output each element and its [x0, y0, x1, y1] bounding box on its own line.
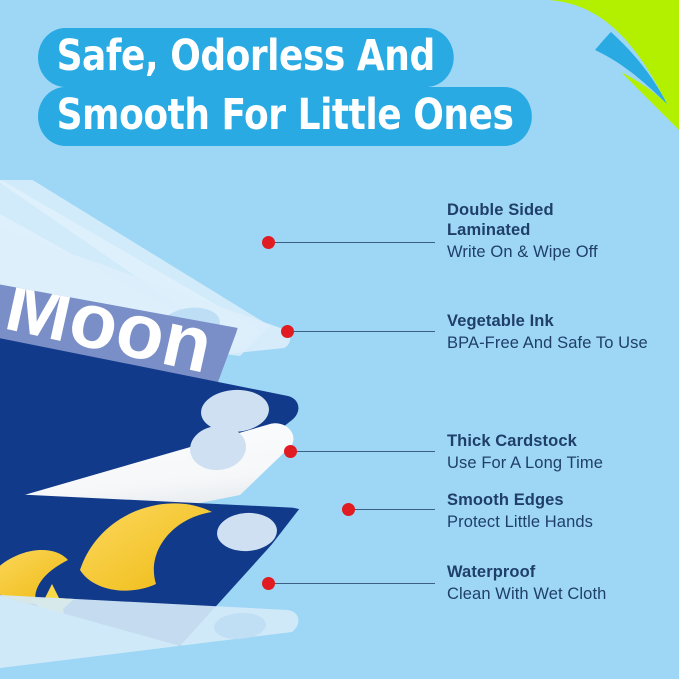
callout-subtitle: Use For A Long Time — [447, 453, 603, 474]
callout-title-line-1: Double Sided — [447, 201, 554, 219]
callout-leader-2 — [293, 331, 435, 332]
callout-thick-cardstock: Thick Cardstock Use For A Long Time — [447, 431, 603, 475]
callout-dot-1 — [262, 236, 275, 249]
callout-smooth-edges: Smooth Edges Protect Little Hands — [447, 490, 593, 534]
headline-line-1: Safe, Odorless And — [38, 28, 453, 87]
callout-title: Waterproof — [447, 562, 606, 582]
callout-subtitle: Protect Little Hands — [447, 512, 593, 533]
callout-leader-3 — [296, 451, 435, 452]
callout-dot-4 — [342, 503, 355, 516]
headline-line-2: Smooth For Little Ones — [38, 87, 532, 146]
headline-banner: Safe, Odorless And Smooth For Little One… — [38, 28, 569, 146]
flash-card-stack-illustration: Moon — [0, 180, 420, 679]
callout-leader-1 — [274, 242, 435, 243]
callout-title: Vegetable Ink — [447, 311, 648, 331]
callout-dot-5 — [262, 577, 275, 590]
callout-subtitle: Write On & Wipe Off — [447, 242, 598, 263]
callout-leader-4 — [354, 509, 435, 510]
callout-leader-5 — [274, 583, 435, 584]
callout-title: Smooth Edges — [447, 490, 593, 510]
callout-double-sided-laminated: Double Sided Laminated Write On & Wipe O… — [447, 200, 598, 264]
callout-dot-3 — [284, 445, 297, 458]
callout-title: Thick Cardstock — [447, 431, 603, 451]
callout-title-line-2: Laminated — [447, 221, 530, 239]
callout-subtitle: BPA-Free And Safe To Use — [447, 333, 648, 354]
callout-title: Double Sided Laminated — [447, 200, 598, 240]
product-infographic: Moon Safe, Odorl — [0, 0, 679, 679]
callout-waterproof: Waterproof Clean With Wet Cloth — [447, 562, 606, 606]
callout-dot-2 — [281, 325, 294, 338]
callout-vegetable-ink: Vegetable Ink BPA-Free And Safe To Use — [447, 311, 648, 355]
callout-subtitle: Clean With Wet Cloth — [447, 584, 606, 605]
